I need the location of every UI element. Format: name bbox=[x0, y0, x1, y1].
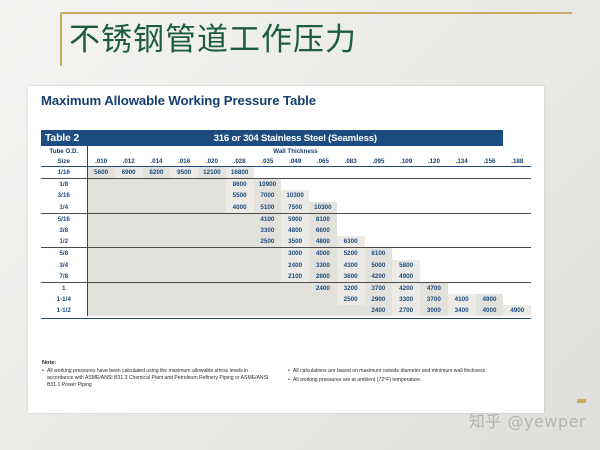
pressure-cell: 10300 bbox=[309, 202, 337, 214]
empty-cell bbox=[503, 179, 531, 191]
empty-cell bbox=[503, 260, 531, 271]
header-thickness-2: .014 bbox=[143, 156, 171, 167]
title-block: 不锈钢管道工作压力 bbox=[27, 12, 572, 72]
empty-cell bbox=[143, 271, 171, 283]
pressure-cell: 9500 bbox=[170, 167, 198, 179]
empty-cell bbox=[476, 260, 504, 271]
pressure-cell: 6100 bbox=[365, 248, 393, 260]
pressure-cell: 12100 bbox=[198, 167, 226, 179]
table-row: 1/22500350048006300 bbox=[41, 236, 531, 248]
header-size-line1: Tube O.D. bbox=[41, 146, 87, 156]
empty-cell bbox=[309, 167, 337, 179]
document-heading: Maximum Allowable Working Pressure Table bbox=[41, 93, 316, 108]
table-row: 124003200370042004700 bbox=[41, 282, 531, 294]
empty-cell bbox=[476, 167, 504, 179]
empty-cell bbox=[198, 213, 226, 225]
empty-cell bbox=[420, 260, 448, 271]
empty-cell bbox=[198, 260, 226, 271]
empty-cell bbox=[476, 213, 504, 225]
empty-cell bbox=[476, 282, 504, 294]
empty-cell bbox=[115, 260, 143, 271]
pressure-cell: 4000 bbox=[226, 202, 254, 214]
empty-cell bbox=[115, 190, 143, 201]
header-thickness-15: .188 bbox=[503, 156, 531, 167]
empty-cell bbox=[448, 213, 476, 225]
pressure-cell: 2500 bbox=[337, 294, 365, 305]
empty-cell bbox=[226, 248, 254, 260]
pressure-cell: 16800 bbox=[226, 167, 254, 179]
empty-cell bbox=[198, 294, 226, 305]
empty-cell bbox=[143, 202, 171, 214]
pressure-cell: 3500 bbox=[281, 236, 309, 248]
empty-cell bbox=[503, 190, 531, 201]
empty-cell bbox=[170, 179, 198, 191]
empty-cell bbox=[476, 202, 504, 214]
empty-cell bbox=[420, 167, 448, 179]
empty-cell bbox=[448, 167, 476, 179]
empty-cell bbox=[226, 294, 254, 305]
header-thickness-1: .012 bbox=[115, 156, 143, 167]
header-thickness-11: .109 bbox=[392, 156, 420, 167]
table-row: 7/821002800360042004900 bbox=[41, 271, 531, 283]
empty-cell bbox=[337, 179, 365, 191]
empty-cell bbox=[87, 305, 115, 316]
empty-cell bbox=[420, 179, 448, 191]
table-row: 3/165500700010300 bbox=[41, 190, 531, 201]
empty-cell bbox=[281, 305, 309, 316]
empty-cell bbox=[87, 282, 115, 294]
pressure-cell: 6600 bbox=[309, 225, 337, 236]
empty-cell bbox=[420, 271, 448, 283]
empty-cell bbox=[365, 167, 393, 179]
pressure-cell: 4700 bbox=[420, 282, 448, 294]
empty-cell bbox=[170, 282, 198, 294]
document-panel: Maximum Allowable Working Pressure Table… bbox=[28, 86, 544, 413]
empty-cell bbox=[392, 225, 420, 236]
empty-cell bbox=[87, 294, 115, 305]
header-size-line2: Size bbox=[41, 156, 87, 167]
notes-column-right: •All calculations are based on maximum o… bbox=[288, 368, 520, 392]
empty-cell bbox=[365, 236, 393, 248]
pressure-cell: 6900 bbox=[115, 167, 143, 179]
empty-cell bbox=[254, 271, 282, 283]
empty-cell bbox=[309, 305, 337, 316]
page-title: 不锈钢管道工作压力 bbox=[69, 16, 357, 64]
pressure-cell: 3300 bbox=[254, 225, 282, 236]
notes-title: Note: bbox=[42, 360, 522, 366]
empty-cell bbox=[170, 202, 198, 214]
pressure-cell: 3000 bbox=[420, 305, 448, 316]
pressure-cell: 2100 bbox=[281, 271, 309, 283]
row-size-label: 3/8 bbox=[41, 225, 87, 236]
empty-cell bbox=[392, 248, 420, 260]
pressure-cell: 4300 bbox=[337, 260, 365, 271]
row-size-label: 1/8 bbox=[41, 179, 87, 191]
empty-cell bbox=[448, 260, 476, 271]
pressure-cell: 3200 bbox=[337, 282, 365, 294]
pressure-cell: 2400 bbox=[281, 260, 309, 271]
table-row: 1/8860010900 bbox=[41, 179, 531, 191]
empty-cell bbox=[143, 260, 171, 271]
empty-cell bbox=[87, 225, 115, 236]
empty-cell bbox=[198, 179, 226, 191]
pressure-cell: 2500 bbox=[254, 236, 282, 248]
header-thickness-6: .035 bbox=[254, 156, 282, 167]
pressure-cell: 8600 bbox=[226, 179, 254, 191]
empty-cell bbox=[198, 271, 226, 283]
empty-cell bbox=[198, 190, 226, 201]
empty-cell bbox=[476, 225, 504, 236]
empty-cell bbox=[254, 260, 282, 271]
empty-cell bbox=[420, 236, 448, 248]
empty-cell bbox=[420, 190, 448, 201]
empty-cell bbox=[476, 190, 504, 201]
empty-cell bbox=[170, 236, 198, 248]
empty-cell bbox=[503, 236, 531, 248]
empty-cell bbox=[198, 236, 226, 248]
empty-cell bbox=[226, 282, 254, 294]
pressure-cell: 3400 bbox=[448, 305, 476, 316]
empty-cell bbox=[115, 282, 143, 294]
empty-cell bbox=[143, 248, 171, 260]
empty-cell bbox=[226, 260, 254, 271]
empty-cell bbox=[198, 202, 226, 214]
pressure-cell: 7500 bbox=[281, 202, 309, 214]
empty-cell bbox=[115, 179, 143, 191]
empty-cell bbox=[143, 179, 171, 191]
empty-cell bbox=[143, 225, 171, 236]
empty-cell bbox=[115, 236, 143, 248]
empty-cell bbox=[254, 167, 282, 179]
empty-cell bbox=[503, 294, 531, 305]
empty-cell bbox=[87, 248, 115, 260]
empty-cell bbox=[476, 271, 504, 283]
empty-cell bbox=[87, 190, 115, 201]
table-header-row-1: Tube O.D. Wall Thickness bbox=[41, 146, 531, 156]
empty-cell bbox=[226, 305, 254, 316]
row-size-label: 1-1/2 bbox=[41, 305, 87, 316]
empty-cell bbox=[143, 294, 171, 305]
row-size-label: 3/4 bbox=[41, 260, 87, 271]
empty-cell bbox=[365, 213, 393, 225]
header-thickness-0: .010 bbox=[87, 156, 115, 167]
empty-cell bbox=[448, 248, 476, 260]
pressure-cell: 4900 bbox=[503, 305, 531, 316]
table-header-row-2: Size .010.012.014.016.020.028.035.049.06… bbox=[41, 156, 531, 167]
table-head: Table 2 316 or 304 Stainless Steel (Seam… bbox=[41, 130, 531, 167]
pressure-cell: 3300 bbox=[392, 294, 420, 305]
note-text: All working pressures have been calculat… bbox=[47, 368, 274, 390]
note-text: All working pressures are at ambient (72… bbox=[293, 377, 520, 384]
header-thickness-13: .134 bbox=[448, 156, 476, 167]
pressure-cell: 6300 bbox=[337, 236, 365, 248]
empty-cell bbox=[198, 282, 226, 294]
empty-cell bbox=[503, 167, 531, 179]
empty-cell bbox=[87, 179, 115, 191]
row-size-label: 1/4 bbox=[41, 202, 87, 214]
pressure-cell: 2800 bbox=[309, 271, 337, 283]
empty-cell bbox=[87, 202, 115, 214]
pressure-cell: 7000 bbox=[254, 190, 282, 201]
empty-cell bbox=[87, 213, 115, 225]
row-size-label: 5/16 bbox=[41, 213, 87, 225]
empty-cell bbox=[170, 271, 198, 283]
table-bottom-rule-cell bbox=[41, 316, 531, 319]
table-banner-row: Table 2 316 or 304 Stainless Steel (Seam… bbox=[41, 130, 531, 146]
empty-cell bbox=[226, 225, 254, 236]
empty-cell bbox=[337, 167, 365, 179]
header-wall-thickness-label: Wall Thickness bbox=[87, 146, 503, 156]
empty-cell bbox=[420, 202, 448, 214]
pressure-cell: 10300 bbox=[281, 190, 309, 201]
header-thickness-8: .065 bbox=[309, 156, 337, 167]
header-thickness-4: .020 bbox=[198, 156, 226, 167]
pressure-cell: 3700 bbox=[420, 294, 448, 305]
empty-cell bbox=[281, 282, 309, 294]
pressure-cell: 3700 bbox=[365, 282, 393, 294]
pressure-cell: 5200 bbox=[337, 248, 365, 260]
empty-cell bbox=[448, 236, 476, 248]
empty-cell bbox=[365, 202, 393, 214]
note-left-0: •All working pressures have been calcula… bbox=[42, 368, 274, 390]
pressure-cell: 4800 bbox=[309, 236, 337, 248]
empty-cell bbox=[170, 248, 198, 260]
empty-cell bbox=[198, 225, 226, 236]
empty-cell bbox=[170, 260, 198, 271]
pressure-cell: 5800 bbox=[392, 260, 420, 271]
empty-cell bbox=[115, 271, 143, 283]
empty-cell bbox=[281, 294, 309, 305]
pressure-cell: 4200 bbox=[365, 271, 393, 283]
empty-cell bbox=[226, 271, 254, 283]
empty-cell bbox=[143, 282, 171, 294]
empty-cell bbox=[420, 225, 448, 236]
empty-cell bbox=[476, 248, 504, 260]
row-size-label: 5/8 bbox=[41, 248, 87, 260]
empty-cell bbox=[503, 225, 531, 236]
pressure-cell: 4100 bbox=[254, 213, 282, 225]
corner-accent-mark bbox=[577, 399, 586, 403]
empty-cell bbox=[476, 179, 504, 191]
empty-cell bbox=[448, 225, 476, 236]
pressure-cell: 2400 bbox=[309, 282, 337, 294]
empty-cell bbox=[503, 282, 531, 294]
empty-cell bbox=[392, 236, 420, 248]
empty-cell bbox=[392, 167, 420, 179]
header-thickness-3: .016 bbox=[170, 156, 198, 167]
empty-cell bbox=[281, 167, 309, 179]
table-row: 5/83000400052006100 bbox=[41, 248, 531, 260]
empty-cell bbox=[365, 179, 393, 191]
empty-cell bbox=[392, 190, 420, 201]
empty-cell bbox=[143, 236, 171, 248]
banner-material-title: 316 or 304 Stainless Steel (Seamless) bbox=[87, 130, 503, 146]
pressure-cell: 4800 bbox=[281, 225, 309, 236]
empty-cell bbox=[503, 271, 531, 283]
table-row: 1-1/2240027003000340040004900 bbox=[41, 305, 531, 316]
empty-cell bbox=[392, 202, 420, 214]
empty-cell bbox=[198, 248, 226, 260]
pressure-cell: 4200 bbox=[392, 282, 420, 294]
pressure-cell: 4000 bbox=[309, 248, 337, 260]
note-text: All calculations are based on maximum ou… bbox=[293, 368, 520, 375]
empty-cell bbox=[365, 225, 393, 236]
table-row: 3/8330048006600 bbox=[41, 225, 531, 236]
empty-cell bbox=[420, 248, 448, 260]
empty-cell bbox=[87, 236, 115, 248]
row-size-label: 1/16 bbox=[41, 167, 87, 179]
pressure-cell: 3600 bbox=[337, 271, 365, 283]
pressure-cell: 2400 bbox=[365, 305, 393, 316]
empty-cell bbox=[115, 225, 143, 236]
empty-cell bbox=[503, 202, 531, 214]
table-row: 5/16410059008100 bbox=[41, 213, 531, 225]
note-right-0: •All calculations are based on maximum o… bbox=[288, 368, 520, 375]
empty-cell bbox=[448, 282, 476, 294]
empty-cell bbox=[170, 225, 198, 236]
empty-cell bbox=[281, 179, 309, 191]
row-size-label: 1/2 bbox=[41, 236, 87, 248]
header-thickness-12: .120 bbox=[420, 156, 448, 167]
pressure-cell: 5100 bbox=[254, 202, 282, 214]
note-right-1: •All working pressures are at ambient (7… bbox=[288, 377, 520, 384]
empty-cell bbox=[115, 305, 143, 316]
empty-cell bbox=[254, 282, 282, 294]
pressure-table: Table 2 316 or 304 Stainless Steel (Seam… bbox=[41, 130, 531, 319]
empty-cell bbox=[448, 179, 476, 191]
pressure-cell: 8200 bbox=[143, 167, 171, 179]
empty-cell bbox=[337, 305, 365, 316]
empty-cell bbox=[170, 213, 198, 225]
empty-cell bbox=[115, 202, 143, 214]
empty-cell bbox=[392, 179, 420, 191]
row-size-label: 1-1/4 bbox=[41, 294, 87, 305]
empty-cell bbox=[365, 190, 393, 201]
pressure-cell: 4900 bbox=[476, 294, 504, 305]
empty-cell bbox=[476, 236, 504, 248]
empty-cell bbox=[254, 305, 282, 316]
notes-column-left: •All working pressures have been calcula… bbox=[42, 368, 274, 392]
header-thickness-5: .028 bbox=[226, 156, 254, 167]
empty-cell bbox=[198, 305, 226, 316]
empty-cell bbox=[226, 213, 254, 225]
empty-cell bbox=[448, 190, 476, 201]
pressure-cell: 3300 bbox=[309, 260, 337, 271]
header-thickness-14: .156 bbox=[476, 156, 504, 167]
empty-cell bbox=[87, 260, 115, 271]
empty-cell bbox=[337, 225, 365, 236]
row-size-label: 7/8 bbox=[41, 271, 87, 283]
pressure-cell: 2900 bbox=[365, 294, 393, 305]
empty-cell bbox=[309, 190, 337, 201]
empty-cell bbox=[87, 271, 115, 283]
empty-cell bbox=[115, 294, 143, 305]
pressure-cell: 5900 bbox=[281, 213, 309, 225]
watermark-label: 知乎 @yewper bbox=[469, 408, 586, 432]
empty-cell bbox=[170, 305, 198, 316]
table-row: 1/440005100750010300 bbox=[41, 202, 531, 214]
pressure-cell: 4000 bbox=[476, 305, 504, 316]
pressure-cell: 5500 bbox=[226, 190, 254, 201]
empty-cell bbox=[448, 271, 476, 283]
title-rule-left bbox=[60, 12, 62, 66]
notes-block: Note: •All working pressures have been c… bbox=[42, 360, 522, 391]
slide-canvas: 不锈钢管道工作压力 Maximum Allowable Working Pres… bbox=[0, 0, 600, 450]
pressure-cell: 5600 bbox=[87, 167, 115, 179]
pressure-cell: 5000 bbox=[365, 260, 393, 271]
empty-cell bbox=[143, 213, 171, 225]
table-row: 1/1656006900820095001210016800 bbox=[41, 167, 531, 179]
pressure-cell: 4100 bbox=[448, 294, 476, 305]
pressure-cell: 10900 bbox=[254, 179, 282, 191]
row-size-label: 1 bbox=[41, 282, 87, 294]
empty-cell bbox=[143, 190, 171, 201]
row-size-label: 3/16 bbox=[41, 190, 87, 201]
pressure-cell: 4900 bbox=[392, 271, 420, 283]
empty-cell bbox=[337, 213, 365, 225]
empty-cell bbox=[143, 305, 171, 316]
empty-cell bbox=[226, 236, 254, 248]
table-row: 3/424003300430050005800 bbox=[41, 260, 531, 271]
table-body: 1/16560069008200950012100168001/88600109… bbox=[41, 167, 531, 319]
empty-cell bbox=[170, 294, 198, 305]
empty-cell bbox=[309, 179, 337, 191]
header-thickness-10: .095 bbox=[365, 156, 393, 167]
empty-cell bbox=[420, 213, 448, 225]
pressure-cell: 8100 bbox=[309, 213, 337, 225]
title-rule-top bbox=[60, 12, 572, 14]
pressure-cell: 3000 bbox=[281, 248, 309, 260]
header-thickness-7: .049 bbox=[281, 156, 309, 167]
empty-cell bbox=[392, 213, 420, 225]
empty-cell bbox=[309, 294, 337, 305]
empty-cell bbox=[503, 213, 531, 225]
empty-cell bbox=[337, 202, 365, 214]
empty-cell bbox=[170, 190, 198, 201]
pressure-cell: 2700 bbox=[392, 305, 420, 316]
empty-cell bbox=[448, 202, 476, 214]
header-thickness-9: .083 bbox=[337, 156, 365, 167]
empty-cell bbox=[115, 213, 143, 225]
banner-table-number: Table 2 bbox=[41, 130, 87, 146]
empty-cell bbox=[503, 248, 531, 260]
empty-cell bbox=[254, 294, 282, 305]
table-bottom-rule bbox=[41, 316, 531, 319]
empty-cell bbox=[337, 190, 365, 201]
table-row: 1-1/4250029003300370041004900 bbox=[41, 294, 531, 305]
empty-cell bbox=[115, 248, 143, 260]
empty-cell bbox=[254, 248, 282, 260]
